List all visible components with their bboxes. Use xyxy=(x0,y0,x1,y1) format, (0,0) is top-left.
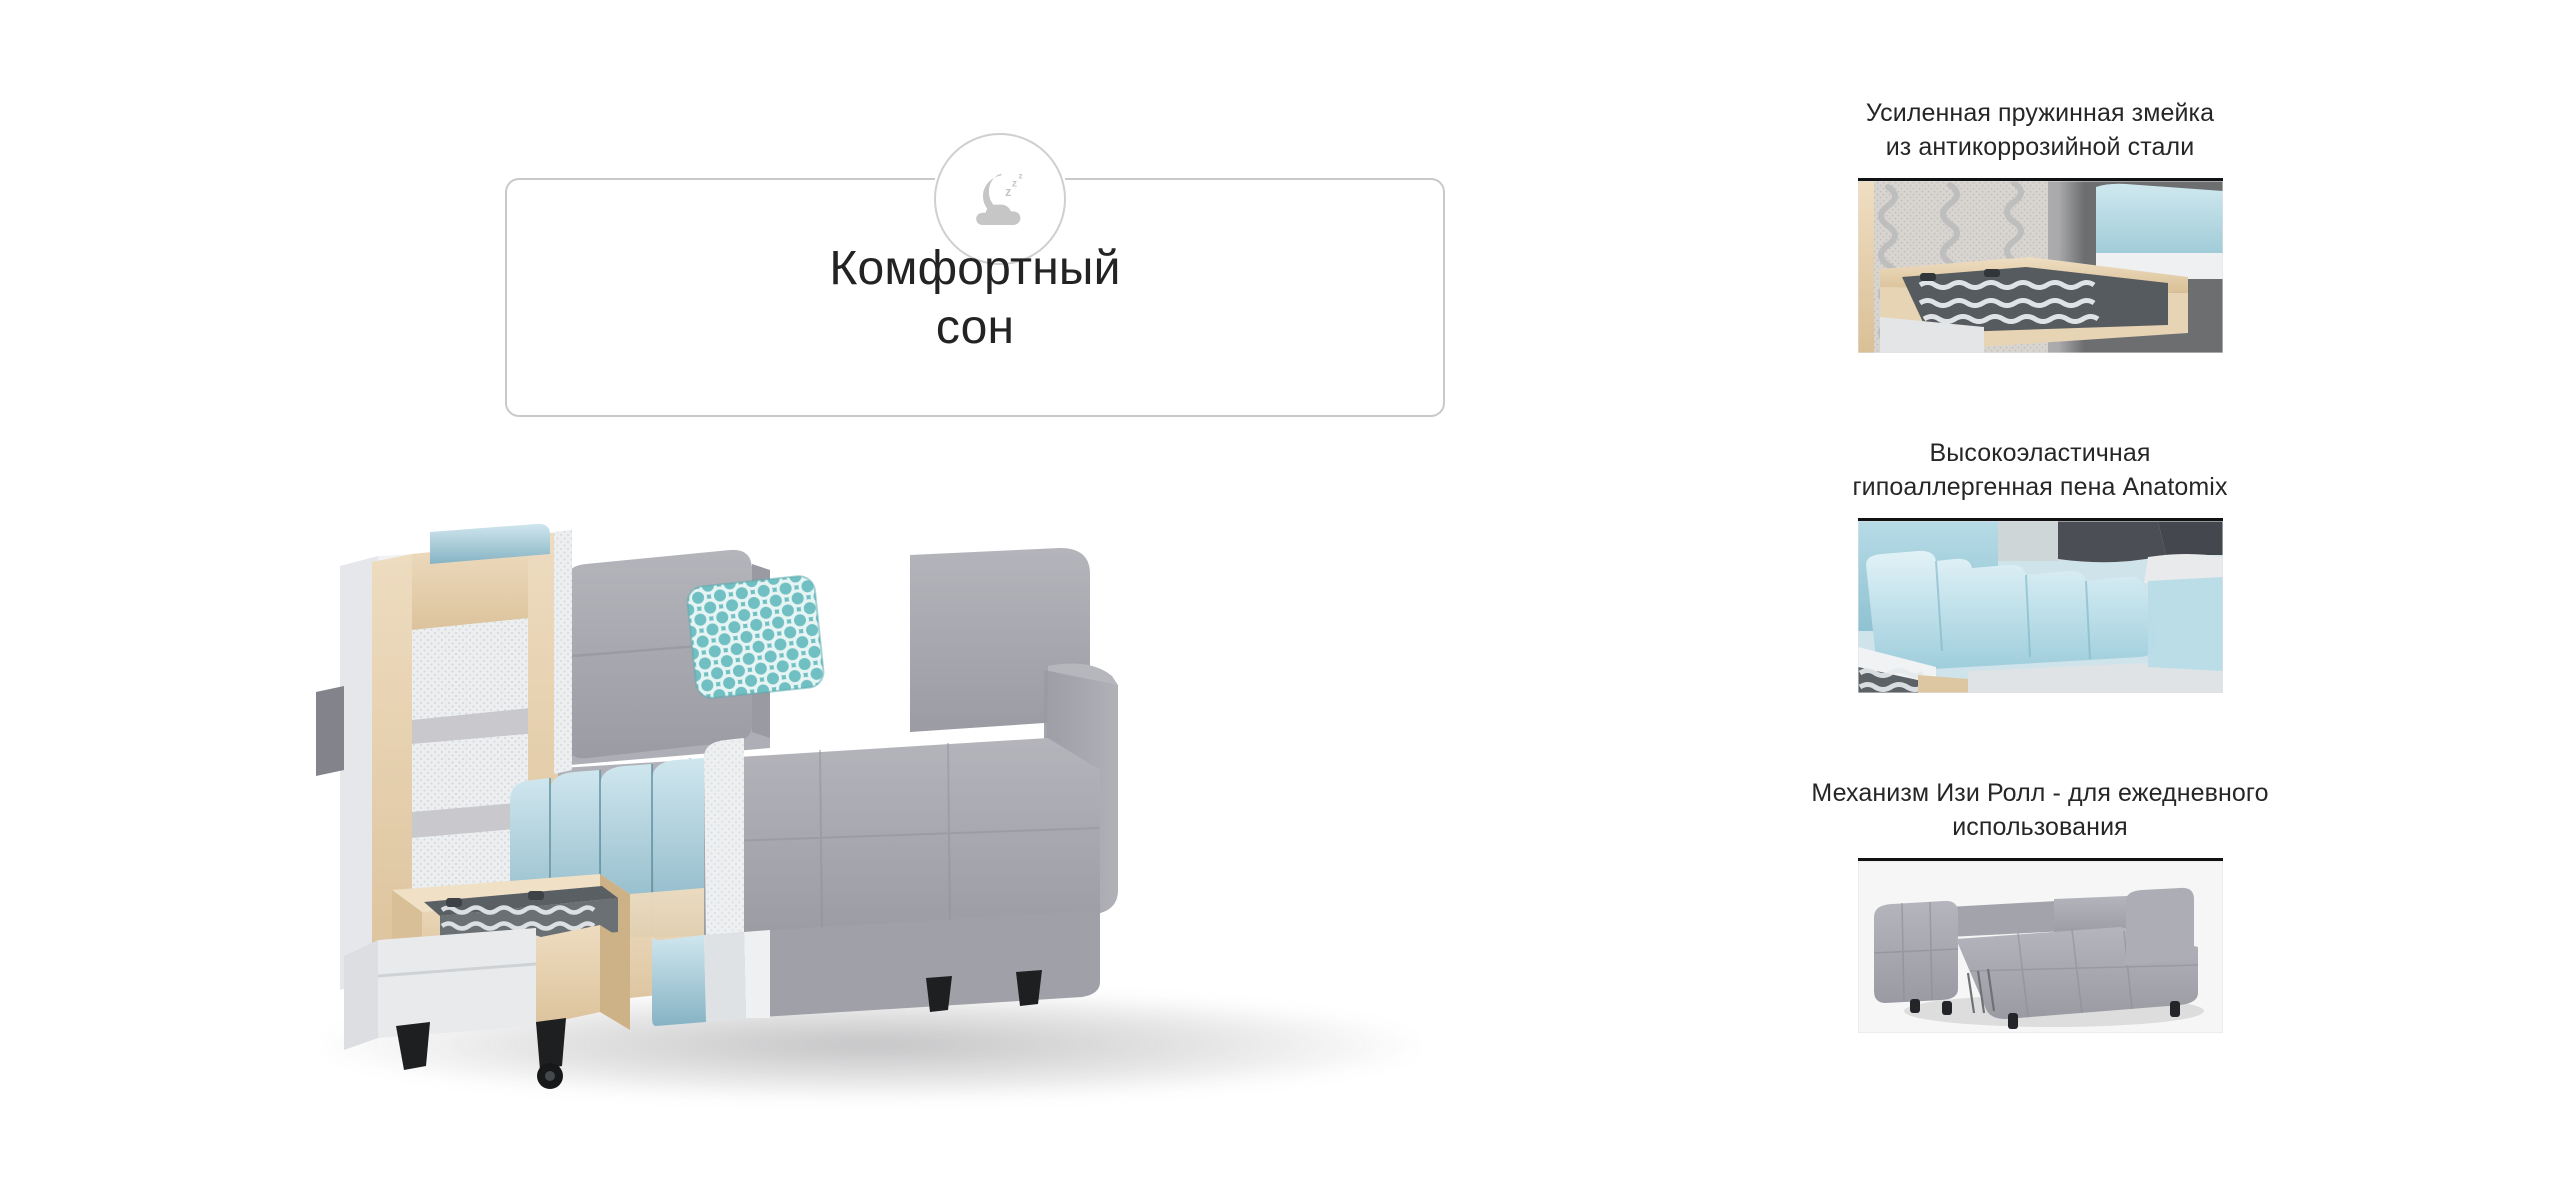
page-title-line-2: сон xyxy=(505,299,1445,358)
features-panel: Усиленная пружинная змейка из антикорроз… xyxy=(1790,0,2350,1188)
svg-text:z: z xyxy=(1005,185,1011,199)
feature-block-1: Усиленная пружинная змейка из антикорроз… xyxy=(1790,96,2290,353)
feature-1-caption-line-2: из антикоррозийной стали xyxy=(1886,133,2195,161)
feature-3-caption-line-2: использования xyxy=(1952,813,2128,841)
feature-2-caption-line-2: гипоаллергенная пена Anatomix xyxy=(1852,473,2227,501)
sofa-illustration-stage xyxy=(300,470,1450,1130)
anatomix-foam-thumbnail xyxy=(1858,521,2223,693)
svg-text:z: z xyxy=(1019,171,1023,180)
slide-root: z z z Комфортный сон xyxy=(0,0,2560,1188)
svg-text:z: z xyxy=(1012,178,1017,189)
easy-roll-mechanism-thumbnail xyxy=(1858,861,2223,1033)
sofa-cutaway-illustration xyxy=(300,470,1450,1130)
moon-zzz-sleep-icon: z z z xyxy=(963,162,1037,236)
feature-2-caption: Высокоэластичная гипоаллергенная пена An… xyxy=(1790,436,2290,504)
feature-2-caption-line-1: Высокоэластичная xyxy=(1930,439,2151,467)
serpentine-spring-thumbnail xyxy=(1858,181,2223,353)
left-panel: z z z Комфортный сон xyxy=(0,0,1640,1188)
feature-1-caption: Усиленная пружинная змейка из антикорроз… xyxy=(1790,96,2290,164)
feature-1-caption-line-1: Усиленная пружинная змейка xyxy=(1866,99,2214,127)
feature-3-caption-line-1: Механизм Изи Ролл - для ежедневного xyxy=(1811,779,2268,807)
page-title-line-1: Комфортный xyxy=(829,242,1120,295)
feature-block-2: Высокоэластичная гипоаллергенная пена An… xyxy=(1790,436,2290,693)
page-title: Комфортный сон xyxy=(505,240,1445,357)
feature-3-caption: Механизм Изи Ролл - для ежедневного испо… xyxy=(1790,776,2290,844)
feature-block-3: Механизм Изи Ролл - для ежедневного испо… xyxy=(1790,776,2290,1033)
